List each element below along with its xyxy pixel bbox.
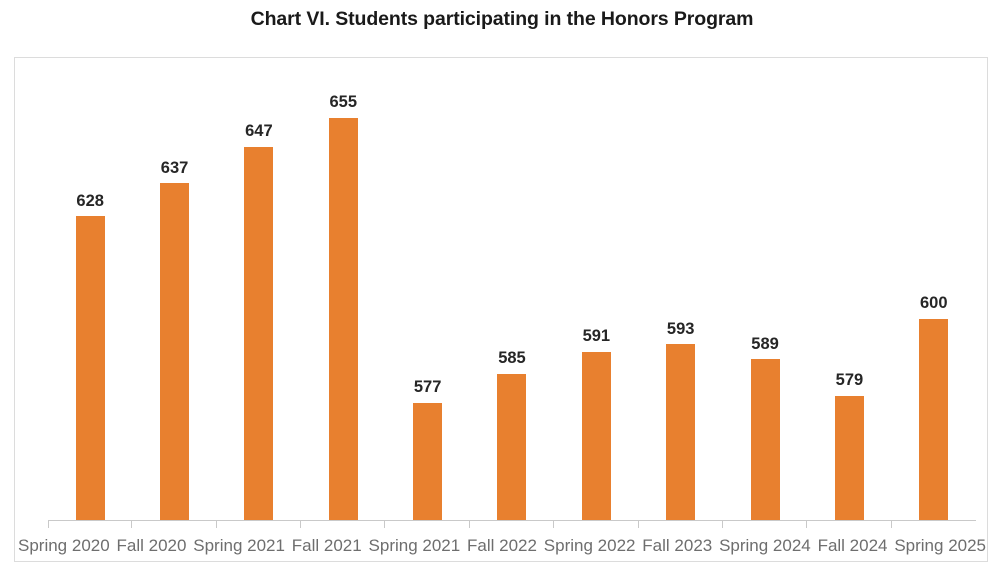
bar-group[interactable]: 579 bbox=[807, 70, 891, 520]
bar-rect[interactable] bbox=[244, 147, 273, 520]
plot-area: 628 637 647 655 577 585 bbox=[48, 70, 976, 520]
x-axis-label: Fall 2023 bbox=[635, 533, 719, 559]
x-axis-label: Spring 2025 bbox=[894, 533, 986, 559]
bar-rect[interactable] bbox=[413, 403, 442, 520]
x-axis-tick bbox=[48, 521, 132, 528]
x-axis-label: Fall 2024 bbox=[811, 533, 895, 559]
bar-rect[interactable] bbox=[835, 396, 864, 520]
x-axis-tick bbox=[892, 521, 976, 528]
bar-value-label: 647 bbox=[217, 123, 301, 140]
bar-value-label: 577 bbox=[385, 379, 469, 396]
bar-group[interactable]: 655 bbox=[301, 70, 385, 520]
x-axis-tick bbox=[554, 521, 638, 528]
bar-group[interactable]: 589 bbox=[723, 70, 807, 520]
bar-value-label: 585 bbox=[470, 350, 554, 367]
x-axis-tick bbox=[470, 521, 554, 528]
x-axis-label: Fall 2022 bbox=[460, 533, 544, 559]
bar-group[interactable]: 577 bbox=[385, 70, 469, 520]
x-axis-tick bbox=[385, 521, 469, 528]
x-axis-tick bbox=[639, 521, 723, 528]
x-axis-tick bbox=[301, 521, 385, 528]
bar-group[interactable]: 637 bbox=[132, 70, 216, 520]
bar-value-label: 579 bbox=[807, 372, 891, 389]
x-axis-tick bbox=[217, 521, 301, 528]
bar-group[interactable]: 647 bbox=[217, 70, 301, 520]
bars-row: 628 637 647 655 577 585 bbox=[48, 70, 976, 520]
bar-value-label: 655 bbox=[301, 94, 385, 111]
chart-title: Chart VI. Students participating in the … bbox=[0, 8, 1004, 31]
bar-value-label: 589 bbox=[723, 336, 807, 353]
bar-value-label: 628 bbox=[48, 193, 132, 210]
bar-value-label: 591 bbox=[554, 328, 638, 345]
bar-group[interactable]: 628 bbox=[48, 70, 132, 520]
bar-value-label: 637 bbox=[132, 160, 216, 177]
x-axis-tick bbox=[807, 521, 891, 528]
bar-value-label: 600 bbox=[892, 295, 976, 312]
bar-group[interactable]: 600 bbox=[892, 70, 976, 520]
bar-rect[interactable] bbox=[160, 183, 189, 520]
bar-rect[interactable] bbox=[76, 216, 105, 520]
bar-rect[interactable] bbox=[582, 352, 611, 520]
x-axis-tick bbox=[723, 521, 807, 528]
x-axis-label: Spring 2024 bbox=[719, 533, 811, 559]
x-axis-ticks bbox=[48, 521, 976, 528]
bar-rect[interactable] bbox=[751, 359, 780, 520]
bar-rect[interactable] bbox=[919, 319, 948, 520]
x-axis-label: Fall 2020 bbox=[110, 533, 194, 559]
bar-value-label: 593 bbox=[639, 321, 723, 338]
x-axis-label: Spring 2022 bbox=[544, 533, 636, 559]
bar-group[interactable]: 591 bbox=[554, 70, 638, 520]
x-axis-label: Spring 2021 bbox=[193, 533, 285, 559]
bar-group[interactable]: 585 bbox=[470, 70, 554, 520]
bar-rect[interactable] bbox=[329, 118, 358, 520]
x-axis-tick bbox=[132, 521, 216, 528]
x-axis-labels: Spring 2020 Fall 2020 Spring 2021 Fall 2… bbox=[18, 533, 986, 559]
bar-rect[interactable] bbox=[666, 344, 695, 520]
bar-rect[interactable] bbox=[497, 374, 526, 520]
x-axis-label: Spring 2020 bbox=[18, 533, 110, 559]
x-axis-label: Fall 2021 bbox=[285, 533, 369, 559]
bar-group[interactable]: 593 bbox=[639, 70, 723, 520]
x-axis-label: Spring 2021 bbox=[369, 533, 461, 559]
chart-container: Chart VI. Students participating in the … bbox=[0, 0, 1004, 575]
